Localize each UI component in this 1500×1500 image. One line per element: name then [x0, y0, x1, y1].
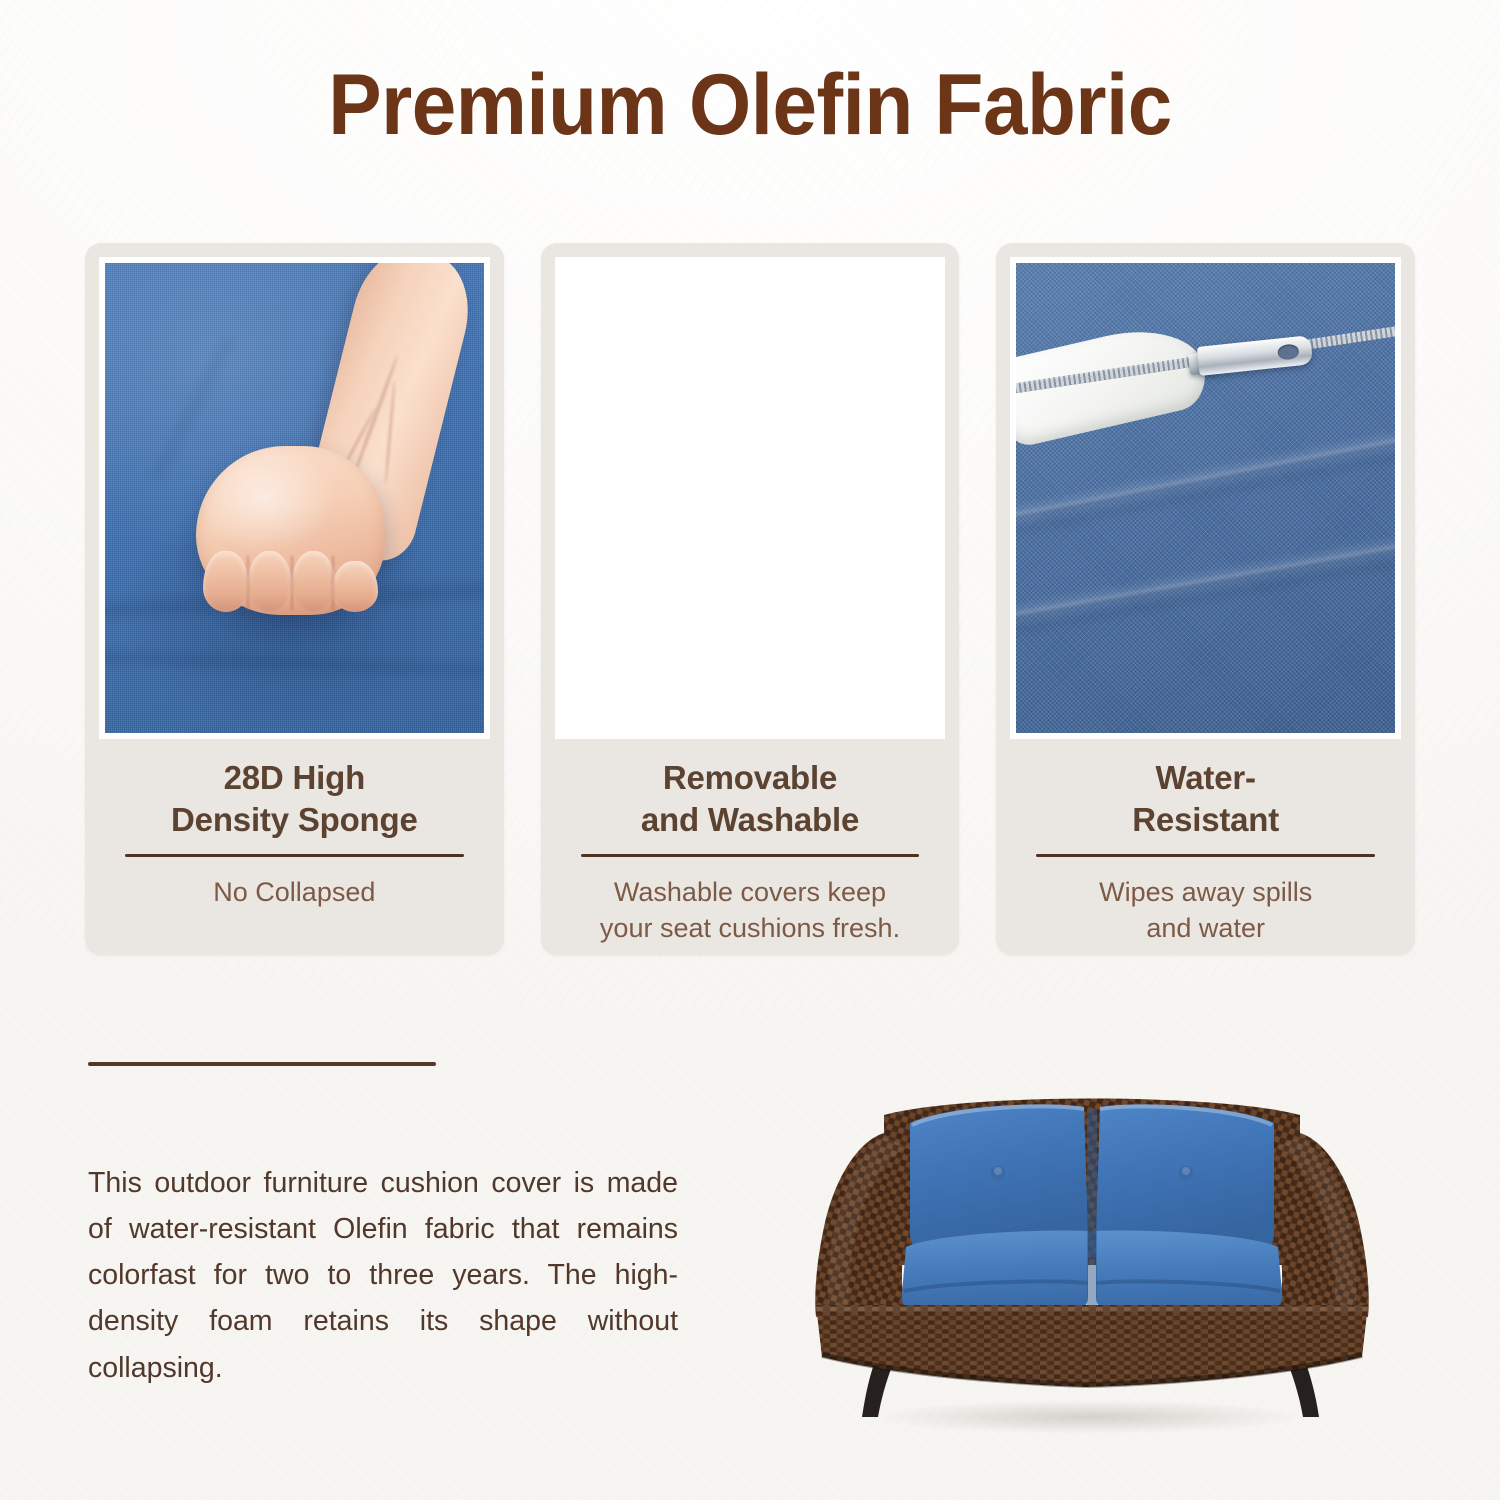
blank-white-photo	[561, 263, 940, 733]
card-subtitle: Washable covers keep your seat cushions …	[600, 875, 900, 947]
feature-cards-row: 28D High Density Sponge No Collapsed Rem…	[85, 243, 1415, 955]
section-rule	[88, 1062, 436, 1066]
knuckle	[291, 551, 336, 612]
card-title: 28D High Density Sponge	[171, 757, 418, 840]
feature-card-water-resistant[interactable]: Water- Resistant Wipes away spills and w…	[996, 243, 1415, 955]
knuckle	[332, 561, 377, 612]
body-paragraph: This outdoor furniture cushion cover is …	[88, 1160, 678, 1391]
photo-frame	[555, 257, 946, 739]
cushion-button-highlight	[1182, 1167, 1190, 1175]
card-text: 28D High Density Sponge No Collapsed	[99, 739, 490, 955]
seat-cushion-gap	[1087, 1231, 1097, 1313]
finger-gap	[247, 556, 249, 610]
feature-card-high-density-sponge[interactable]: 28D High Density Sponge No Collapsed	[85, 243, 504, 955]
photo-frame	[99, 257, 490, 739]
knuckle	[247, 551, 292, 612]
finger-gap	[332, 556, 334, 610]
finger-gap	[291, 556, 293, 610]
seat-cushion-left	[902, 1231, 1088, 1313]
card-divider	[581, 854, 920, 857]
vein	[350, 355, 400, 485]
card-subtitle: Wipes away spills and water	[1099, 875, 1312, 947]
card-text: Removable and Washable Washable covers k…	[555, 739, 946, 955]
photo-frame	[1010, 257, 1401, 739]
card-title: Water- Resistant	[1132, 757, 1279, 840]
outdoor-wicker-loveseat-image	[788, 965, 1396, 1435]
page-title: Premium Olefin Fabric	[53, 62, 1448, 148]
card-subtitle: No Collapsed	[213, 875, 375, 911]
fist-pressing-blue-cushion-photo	[105, 263, 484, 733]
seat-cushion-right	[1096, 1231, 1282, 1313]
feature-card-removable-and-washable[interactable]: Removable and Washable Washable covers k…	[541, 243, 960, 955]
ground-shadow	[873, 1400, 1303, 1434]
base-shade	[816, 1305, 1368, 1387]
zipper-on-blue-fabric-photo	[1016, 263, 1395, 733]
card-text: Water- Resistant Wipes away spills and w…	[1010, 739, 1401, 955]
cushion-button-highlight	[994, 1167, 1002, 1175]
closed-fist	[196, 446, 385, 615]
knuckle	[203, 551, 248, 612]
card-divider	[1036, 854, 1375, 857]
card-title: Removable and Washable	[641, 757, 859, 840]
vein	[384, 380, 396, 485]
card-divider	[125, 854, 464, 857]
